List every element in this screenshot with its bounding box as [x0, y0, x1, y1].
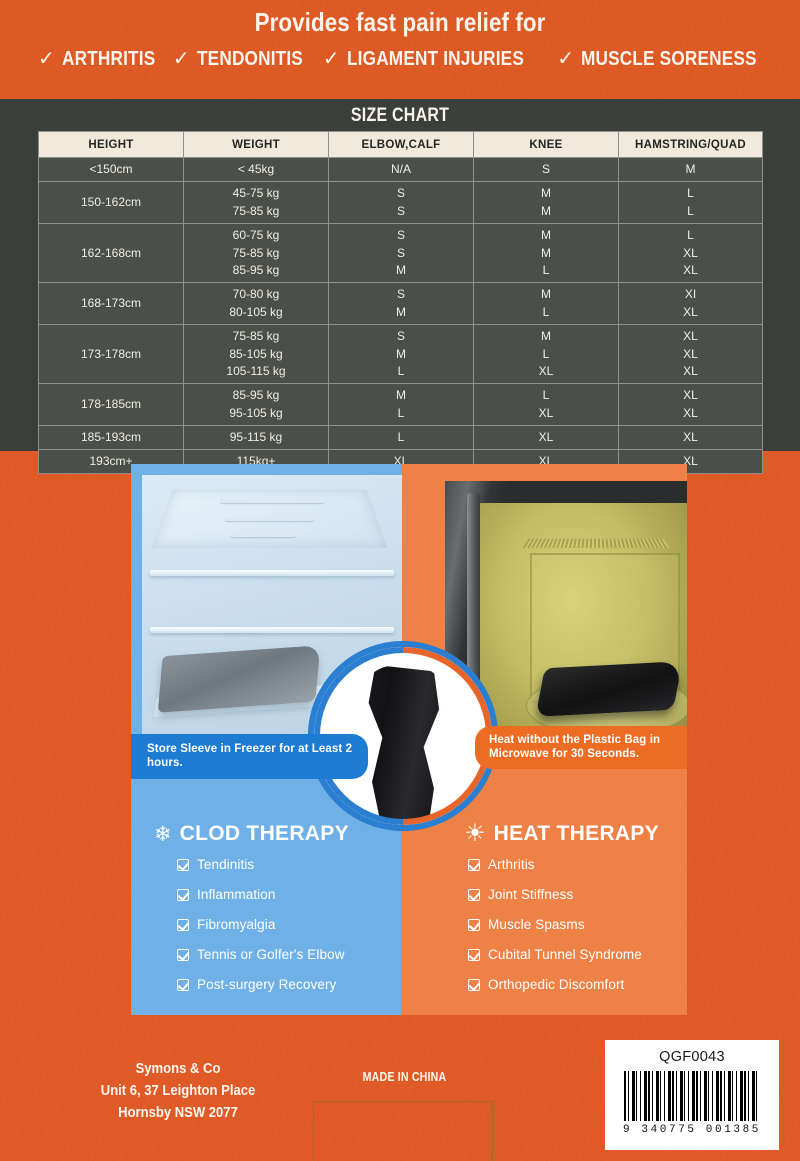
check-icon: ✓	[173, 49, 190, 69]
cell-elbow-calf: SM	[329, 283, 474, 325]
pain-relief-banner: Provides fast pain relief for ✓ ARTHRITI…	[0, 0, 800, 99]
cell-knee: LXL	[474, 384, 619, 426]
cell-elbow-calf: ML	[329, 384, 474, 426]
cell-hamstring-quad: M	[619, 158, 763, 182]
cell-knee: MML	[474, 224, 619, 283]
table-row: 173-178cm 75-85 kg85-105 kg105-115 kg SM…	[39, 325, 763, 384]
column-header-hamstring-quad: HAMSTRING/QUAD	[619, 132, 763, 158]
banner-item-label: ARTHRITIS	[62, 47, 155, 71]
sleeve-in-freezer	[158, 645, 321, 713]
banner-item-arthritis: ✓ ARTHRITIS	[38, 47, 173, 71]
cold-therapy-heading-label: CLOD THERAPY	[180, 822, 349, 846]
cell-knee: S	[474, 158, 619, 182]
list-item-label: Inflammation	[197, 887, 275, 902]
check-icon: ✓	[557, 49, 574, 69]
blank-info-box	[313, 1101, 493, 1161]
list-item: Tennis or Golfer's Elbow	[177, 947, 427, 962]
cell-weight: 85-95 kg95-105 kg	[184, 384, 329, 426]
banner-title: Provides fast pain relief for	[56, 0, 744, 38]
cold-therapy-heading: ❄ CLOD THERAPY	[154, 822, 349, 846]
list-item-label: Joint Stiffness	[488, 887, 573, 902]
checkbox-checked-icon	[468, 949, 480, 961]
packaging-back-panel: Provides fast pain relief for ✓ ARTHRITI…	[0, 0, 800, 1161]
column-header-knee: KNEE	[474, 132, 619, 158]
banner-condition-list: ✓ ARTHRITIS ✓ TENDONITIS ✓ LIGAMENT INJU…	[0, 38, 800, 71]
cell-hamstring-quad: XLXL	[619, 384, 763, 426]
cell-weight: 70-80 kg80-105 kg	[184, 283, 329, 325]
cold-therapy-list: Tendinitis Inflammation Fibromyalgia Ten…	[177, 857, 427, 1007]
freezer-shelf	[150, 570, 394, 576]
column-header-height: HEIGHT	[39, 132, 184, 158]
freezer-rack-bar	[230, 534, 295, 537]
checkbox-checked-icon	[468, 889, 480, 901]
table-row: 162-168cm 60-75 kg75-85 kg85-95 kg SSM M…	[39, 224, 763, 283]
freezer-instruction-callout: Store Sleeve in Freezer for at Least 2 h…	[131, 734, 368, 779]
cell-elbow-calf: SS	[329, 182, 474, 224]
size-chart-section: SIZE CHART HEIGHT WEIGHT ELBOW,CALF KNEE…	[0, 99, 800, 451]
check-icon: ✓	[38, 49, 55, 69]
cell-elbow-calf: SSM	[329, 224, 474, 283]
checkbox-checked-icon	[468, 859, 480, 871]
cell-height: 168-173cm	[39, 283, 184, 325]
table-row: 168-173cm 70-80 kg80-105 kg SM ML XIXL	[39, 283, 763, 325]
cell-hamstring-quad: XLXLXL	[619, 325, 763, 384]
column-header-elbow-calf: ELBOW,CALF	[329, 132, 474, 158]
banner-item-muscle-soreness: ✓ MUSCLE SORENESS	[557, 47, 790, 71]
banner-item-tendonitis: ✓ TENDONITIS	[173, 47, 323, 71]
check-icon: ✓	[323, 49, 340, 69]
cell-knee: MLXL	[474, 325, 619, 384]
banner-item-label: TENDONITIS	[197, 47, 303, 71]
size-chart-title: SIZE CHART	[64, 99, 736, 127]
microwave-cavity	[478, 503, 687, 743]
barcode-sku-label: QGF0043	[659, 1049, 725, 1065]
table-row: 185-193cm 95-115 kg L XL XL	[39, 426, 763, 450]
made-in-label: MADE IN CHINA	[339, 1070, 471, 1084]
checkbox-checked-icon	[177, 979, 189, 991]
cell-height: <150cm	[39, 158, 184, 182]
freezer-rack-bar	[225, 517, 313, 521]
banner-item-label: LIGAMENT INJURIES	[347, 47, 524, 71]
cell-weight: 45-75 kg75-85 kg	[184, 182, 329, 224]
table-row: 150-162cm 45-75 kg75-85 kg SS MM LL	[39, 182, 763, 224]
microwave-vent	[523, 539, 669, 548]
list-item: Inflammation	[177, 887, 427, 902]
cell-knee: XL	[474, 426, 619, 450]
address-line-1: Unit 6, 37 Leighton Place	[70, 1080, 286, 1102]
list-item: Joint Stiffness	[468, 887, 687, 902]
table-row: <150cm < 45kg N/A S M	[39, 158, 763, 182]
list-item: Fibromyalgia	[177, 917, 427, 932]
heat-therapy-heading-label: HEAT THERAPY	[494, 822, 659, 846]
freezer-rack-bar	[220, 499, 324, 503]
table-row: 178-185cm 85-95 kg95-105 kg ML LXL XLXL	[39, 384, 763, 426]
cell-height: 173-178cm	[39, 325, 184, 384]
cell-weight: 95-115 kg	[184, 426, 329, 450]
microwave-instruction-callout: Heat without the Plastic Bag in Microwav…	[475, 726, 687, 769]
list-item-label: Tendinitis	[197, 857, 254, 872]
cell-weight: 75-85 kg85-105 kg105-115 kg	[184, 325, 329, 384]
list-item: Cubital Tunnel Syndrome	[468, 947, 687, 962]
list-item: Muscle Spasms	[468, 917, 687, 932]
checkbox-checked-icon	[177, 859, 189, 871]
cell-weight: 60-75 kg75-85 kg85-95 kg	[184, 224, 329, 283]
banner-item-label: MUSCLE SORENESS	[581, 47, 757, 71]
cell-hamstring-quad: XIXL	[619, 283, 763, 325]
sun-icon: ☀	[464, 822, 486, 846]
cell-knee: ML	[474, 283, 619, 325]
list-item-label: Fibromyalgia	[197, 917, 275, 932]
list-item-label: Cubital Tunnel Syndrome	[488, 947, 642, 962]
cell-elbow-calf: SML	[329, 325, 474, 384]
cell-height: 178-185cm	[39, 384, 184, 426]
list-item-label: Tennis or Golfer's Elbow	[197, 947, 345, 962]
cell-height: 150-162cm	[39, 182, 184, 224]
therapy-panel: Store Sleeve in Freezer for at Least 2 h…	[131, 464, 687, 1015]
cell-elbow-calf: L	[329, 426, 474, 450]
company-name: Symons & Co	[70, 1058, 286, 1080]
list-item-label: Muscle Spasms	[488, 917, 585, 932]
sleeve-in-microwave	[535, 661, 682, 717]
freezer-shelf	[150, 627, 394, 633]
cell-elbow-calf: N/A	[329, 158, 474, 182]
list-item: Tendinitis	[177, 857, 427, 872]
barcode-bars	[624, 1071, 760, 1121]
checkbox-checked-icon	[468, 919, 480, 931]
checkbox-checked-icon	[468, 979, 480, 991]
cell-height: 162-168cm	[39, 224, 184, 283]
heat-therapy-heading: ☀ HEAT THERAPY	[464, 822, 659, 846]
list-item-label: Arthritis	[488, 857, 535, 872]
banner-item-ligament-injuries: ✓ LIGAMENT INJURIES	[323, 47, 557, 71]
list-item-label: Post-surgery Recovery	[197, 977, 336, 992]
table-header-row: HEIGHT WEIGHT ELBOW,CALF KNEE HAMSTRING/…	[39, 132, 763, 158]
checkbox-checked-icon	[177, 919, 189, 931]
barcode-digits: 9 340775 001385	[623, 1124, 761, 1136]
heat-therapy-list: Arthritis Joint Stiffness Muscle Spasms …	[468, 857, 687, 1007]
snowflake-icon: ❄	[154, 824, 172, 845]
barcode-block: QGF0043 9 340775 001385	[605, 1040, 779, 1150]
list-item: Post-surgery Recovery	[177, 977, 427, 992]
company-address-block: Symons & Co Unit 6, 37 Leighton Place Ho…	[70, 1058, 286, 1124]
column-header-weight: WEIGHT	[184, 132, 329, 158]
cell-knee: MM	[474, 182, 619, 224]
cell-hamstring-quad: XL	[619, 426, 763, 450]
cell-height: 185-193cm	[39, 426, 184, 450]
size-chart-table: HEIGHT WEIGHT ELBOW,CALF KNEE HAMSTRING/…	[38, 131, 763, 474]
list-item: Orthopedic Discomfort	[468, 977, 687, 992]
address-line-2: Hornsby NSW 2077	[70, 1102, 286, 1124]
checkbox-checked-icon	[177, 889, 189, 901]
cell-hamstring-quad: LL	[619, 182, 763, 224]
list-item-label: Orthopedic Discomfort	[488, 977, 624, 992]
cell-weight: < 45kg	[184, 158, 329, 182]
checkbox-checked-icon	[177, 949, 189, 961]
cell-hamstring-quad: LXLXL	[619, 224, 763, 283]
list-item: Arthritis	[468, 857, 687, 872]
